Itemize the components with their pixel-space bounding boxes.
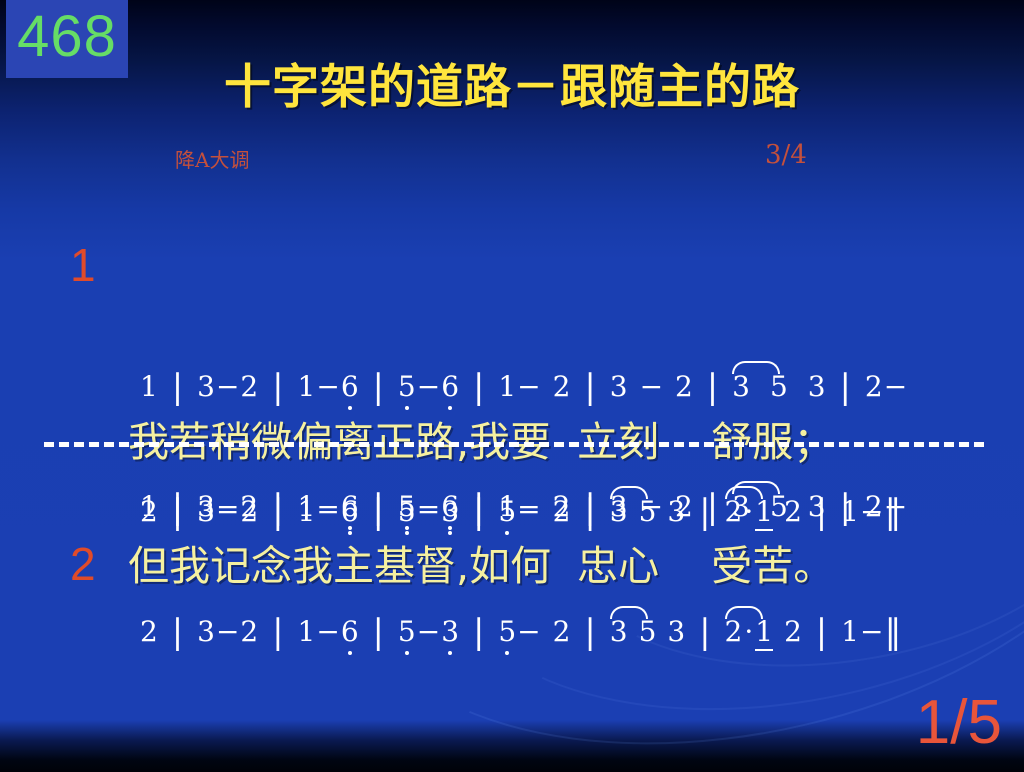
decorative-swoosh [298, 181, 1024, 772]
note-low-octave: 5 [398, 370, 416, 403]
note-low-octave: 5 [398, 490, 416, 523]
note-low-octave: 6 [441, 490, 459, 523]
note: 5 [639, 615, 657, 648]
note: 2 [553, 490, 571, 523]
barline: | [167, 487, 188, 527]
note-low-octave: 6 [441, 370, 459, 403]
note: 3 [610, 490, 628, 523]
note-dash: − [315, 615, 340, 648]
barline: | [835, 367, 856, 407]
note: 3 [197, 615, 215, 648]
barline: | [368, 487, 389, 527]
stanza-number: 2 [70, 537, 96, 591]
note: 3 [732, 370, 750, 403]
note: 1 [498, 490, 516, 523]
barline: | [579, 612, 600, 652]
barline: | [702, 367, 723, 407]
note-dash: − [215, 615, 240, 648]
note: 2 [784, 615, 802, 648]
note-dash: − [883, 490, 908, 523]
note: 2 [725, 615, 743, 648]
note-low-octave: 6 [341, 370, 359, 403]
note-dash: − [516, 370, 541, 403]
note-dash: − [516, 615, 541, 648]
section-divider [44, 442, 984, 447]
barline: | [167, 612, 188, 652]
note: 2 [553, 370, 571, 403]
barline: | [702, 487, 723, 527]
key-signature: 降A大调 [175, 144, 249, 173]
note-dash: − [416, 370, 441, 403]
note-dash: − [416, 615, 441, 648]
note: 1 [140, 370, 158, 403]
barline: | [579, 367, 600, 407]
note: 3 [197, 490, 215, 523]
barline: | [694, 612, 715, 652]
note-low-octave: 5 [498, 615, 516, 648]
notation-row: 2 | 3−2 | 1−6 | 5−3 | 5−2 | 353 | 2·12 |… [140, 610, 896, 651]
note-dash: − [215, 370, 240, 403]
note-dash: − [639, 490, 664, 523]
barline: | [468, 367, 489, 407]
note: 2 [553, 615, 571, 648]
note: 2 [240, 490, 258, 523]
note-dash: − [639, 370, 664, 403]
note: 3 [610, 615, 628, 648]
barline: | [167, 367, 188, 407]
barline: | [267, 367, 288, 407]
note: 3 [667, 615, 685, 648]
note: 1 [298, 490, 316, 523]
note-low-octave: 6 [341, 615, 359, 648]
note-slur-start: 2 [725, 615, 743, 648]
note: 2 [865, 370, 883, 403]
note-dash: − [315, 490, 340, 523]
note-low-octave: 3 [441, 615, 459, 648]
page-title: 十字架的道路－跟随主的路 [0, 62, 1024, 114]
stanza-number: 1 [70, 238, 96, 292]
barline: | [811, 612, 832, 652]
barline: | [267, 612, 288, 652]
barline: | [835, 487, 856, 527]
lyric-line: 但我记念我主基督,如何 忠心 受苦。 [128, 542, 834, 590]
note: 2 [865, 490, 883, 523]
barline: | [368, 612, 389, 652]
note: 2 [140, 615, 158, 648]
note: 3 [610, 370, 628, 403]
note: 2 [240, 370, 258, 403]
note: 3 [808, 370, 826, 403]
barline: | [468, 612, 489, 652]
note: 1 [298, 370, 316, 403]
note: 3 [197, 370, 215, 403]
note: 5 [770, 490, 788, 523]
time-signature: 3/4 [765, 140, 807, 170]
note-dash: − [416, 490, 441, 523]
barline: | [368, 367, 389, 407]
end-barline: ‖ [884, 612, 896, 652]
augmentation-dot: · [742, 615, 755, 648]
note: 1 [298, 615, 316, 648]
note-low-octave: 5 [398, 615, 416, 648]
note-low-octave: 6 [341, 490, 359, 523]
note-dash: − [215, 490, 240, 523]
note-slur-start: 3 [610, 615, 628, 648]
note: 3 [732, 490, 750, 523]
note-dash: − [315, 370, 340, 403]
note-dash: − [859, 615, 884, 648]
notation-row: 1 | 3−2 | 1−6 | 5−6 | 1−2 | 3−2 | 353 | … [140, 485, 908, 525]
note: 2 [240, 615, 258, 648]
note: 2 [675, 490, 693, 523]
note-slur-start: 3 [732, 490, 750, 523]
barline: | [579, 487, 600, 527]
note: 5 [770, 370, 788, 403]
note: 3 [808, 490, 826, 523]
note-slur-start: 3 [732, 370, 750, 403]
barline: | [468, 487, 489, 527]
note-sixteenth: 1 [755, 615, 773, 651]
note: 1 [841, 615, 859, 648]
note-dash: − [516, 490, 541, 523]
notation-row: 1 | 3−2 | 1−6 | 5−6 | 1−2 | 3−2 | 353 | … [140, 365, 908, 405]
note: 1 [498, 370, 516, 403]
hymn-slide: 468 十字架的道路－跟随主的路 降A大调 3/4 1 1 | 3−2 | 1−… [0, 0, 1024, 772]
note: 2 [675, 370, 693, 403]
barline: | [267, 487, 288, 527]
note-dash: − [883, 370, 908, 403]
page-counter: 1/5 [916, 692, 1002, 754]
note: 1 [140, 490, 158, 523]
